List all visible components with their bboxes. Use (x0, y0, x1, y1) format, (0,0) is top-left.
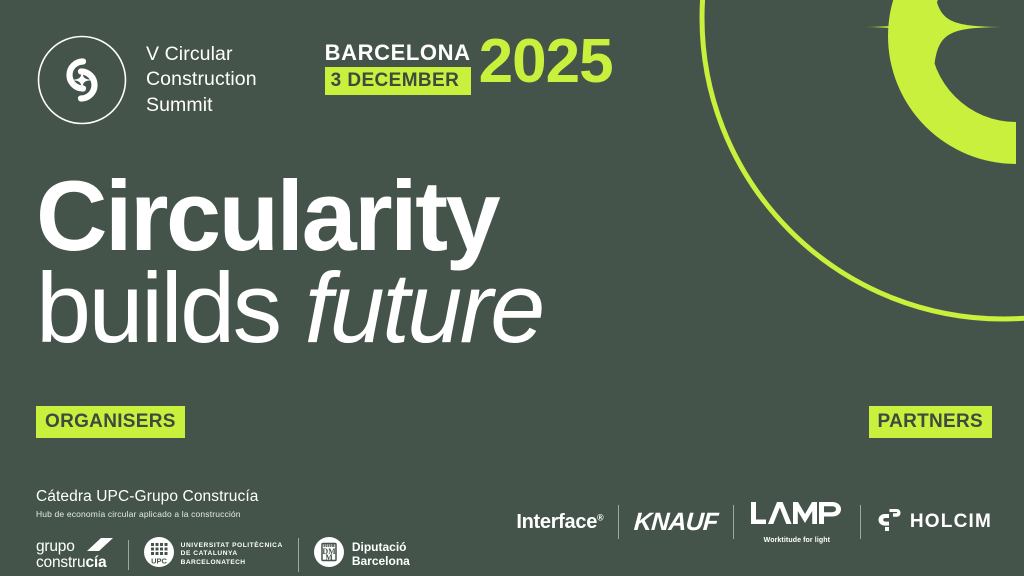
thick-c-arc-icon (888, 0, 1016, 164)
logo-divider (860, 505, 861, 539)
four-point-sparkle-icon (866, 0, 1000, 94)
svg-text:UPC: UPC (151, 557, 167, 566)
event-year: 2025 (479, 36, 613, 89)
grupo-construcia-constru: constru (36, 554, 85, 571)
brand-lockup: V Circular Construction Summit (36, 34, 257, 126)
upc-tech: TECH (226, 559, 246, 566)
headline-line-1: Circularity (36, 168, 543, 264)
header: V Circular Construction Summit BARCELONA… (36, 34, 613, 126)
interface-registered-icon: ® (597, 512, 603, 522)
upc-barcelona: BARCELONA (181, 559, 226, 566)
diputacio-crest-icon: DM M (314, 537, 344, 572)
logo-divider (298, 538, 299, 572)
organisers-badge: ORGANISERS (36, 406, 185, 438)
grupo-construcia-line-2: construcía (36, 555, 113, 571)
event-city: BARCELONA (325, 42, 471, 64)
organisers-section: ORGANISERS Cátedra UPC-Grupo Construcía … (36, 406, 456, 572)
circular-summit-mark-icon (36, 34, 128, 126)
partners-section: PARTNERS Interface® KNAUF Worktitude for… (516, 406, 992, 544)
headline-line-2: builds future (36, 260, 543, 356)
logo-grupo-construcia[interactable]: grupo construcía (36, 538, 113, 571)
grupo-construcia-line-1: grupo (36, 539, 75, 555)
logo-divider (733, 505, 734, 539)
svg-text:M: M (325, 553, 333, 562)
partners-badge: PARTNERS (869, 406, 993, 438)
holcim-mark-icon (876, 507, 902, 538)
city-date-stack: BARCELONA 3 DECEMBER (325, 38, 471, 95)
organisers-subtitle: Hub de economía circular aplicado a la c… (36, 509, 456, 519)
logo-lamp[interactable]: Worktitude for light (749, 500, 845, 544)
upc-line-3: BARCELONATECH (181, 559, 283, 567)
headline-builds: builds (36, 252, 305, 363)
page-title: Circularity builds future (36, 168, 543, 356)
headline-future: future (305, 252, 543, 363)
partner-logo-row: Interface® KNAUF Worktitude for light (516, 500, 992, 544)
holcim-text: HOLCIM (910, 511, 992, 533)
swoosh-parallelogram-icon (81, 538, 113, 555)
brand-name: V Circular Construction Summit (146, 42, 257, 118)
event-date: 3 DECEMBER (325, 67, 471, 95)
decorative-circular-sparkle-graphic (684, 0, 1024, 330)
diputacio-line-2: Barcelona (352, 555, 410, 568)
logo-interface[interactable]: Interface® (516, 511, 603, 534)
upc-line-2: DE CATALUNYA (181, 550, 283, 558)
upc-grid-icon: UPC (144, 537, 174, 572)
event-date-block: BARCELONA 3 DECEMBER 2025 (325, 38, 613, 95)
lamp-wordmark-icon (749, 500, 845, 535)
logo-holcim[interactable]: HOLCIM (876, 507, 992, 538)
thin-circle-outline-icon (702, 0, 1024, 319)
logo-knauf[interactable]: KNAUF (633, 508, 719, 537)
interface-text: Interface (516, 511, 597, 533)
organiser-logo-row: grupo construcía (36, 537, 456, 572)
logo-upc-barcelonatech[interactable]: UPC UNIVERSITAT POLITÈCNICA DE CATALUNYA… (144, 537, 283, 572)
logo-divider (618, 505, 619, 539)
logo-diputacio-barcelona[interactable]: DM M Diputació Barcelona (314, 537, 410, 572)
logo-divider (128, 540, 129, 570)
upc-line-1: UNIVERSITAT POLITÈCNICA (181, 542, 283, 550)
organisers-title: Cátedra UPC-Grupo Construcía (36, 488, 456, 506)
diputacio-line-1: Diputació (352, 541, 410, 554)
lamp-tagline: Worktitude for light (764, 537, 830, 544)
grupo-construcia-cia: cía (85, 554, 106, 571)
